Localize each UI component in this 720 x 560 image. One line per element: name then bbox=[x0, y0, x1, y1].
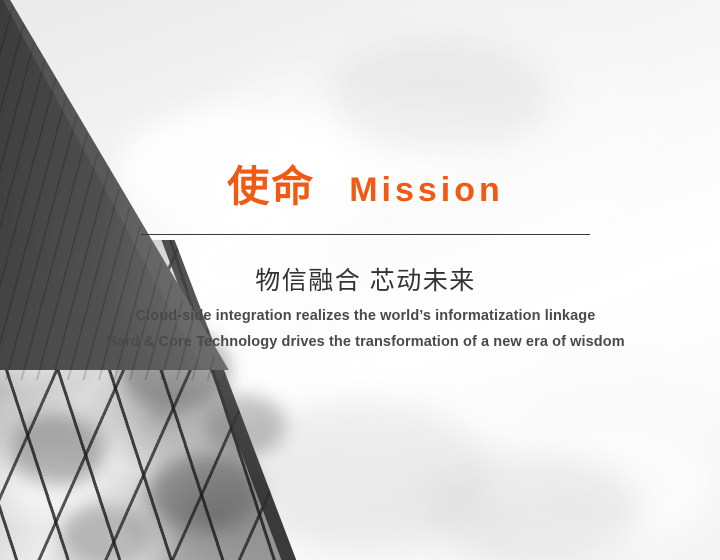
banner-content: 使命Mission 物信融合 芯动未来 Cloud-side integrati… bbox=[0, 0, 720, 560]
mission-banner: 使命Mission 物信融合 芯动未来 Cloud-side integrati… bbox=[0, 0, 720, 560]
subtitle-english-line: Cloud-side integration realizes the worl… bbox=[60, 303, 671, 329]
subtitle-chinese: 物信融合 芯动未来 bbox=[141, 261, 590, 297]
page-title-english: Mission bbox=[349, 171, 504, 209]
title-divider bbox=[141, 234, 590, 235]
page-title: 使命Mission bbox=[141, 166, 590, 208]
subtitle-english-line: Hard & Core Technology drives the transf… bbox=[60, 329, 671, 355]
page-title-chinese: 使命 bbox=[227, 163, 315, 210]
subtitle-english-block: Cloud-side integration realizes the worl… bbox=[60, 303, 671, 355]
